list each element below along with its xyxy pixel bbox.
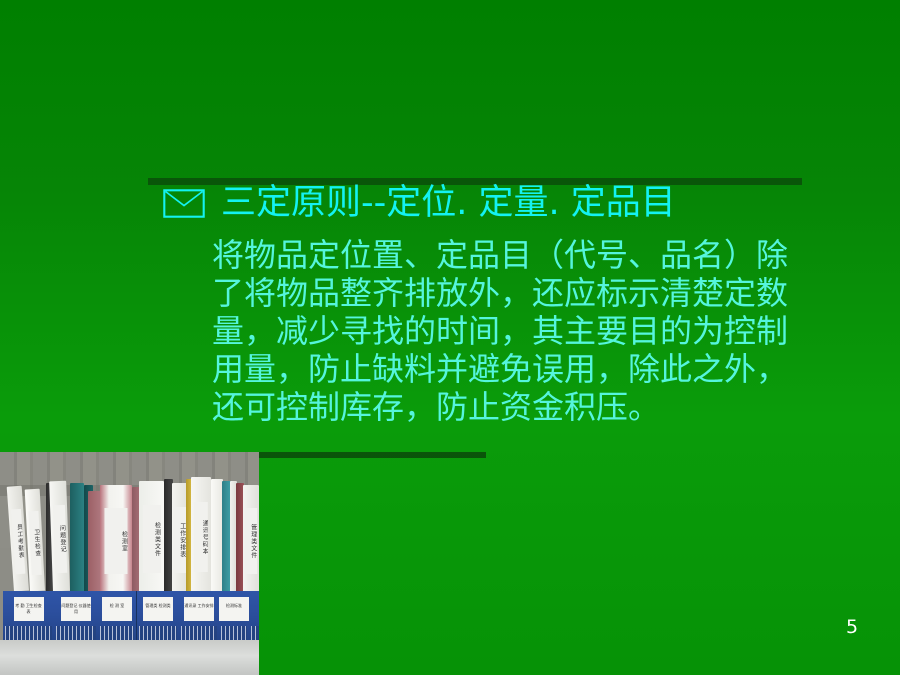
binder-spine-label: 检测室 xyxy=(104,508,127,573)
photo-desk-surface xyxy=(0,640,259,675)
slide-canvas: 三定原则--定位. 定量. 定品目 将物品定位置、定品目（代号、品名）除 了将物… xyxy=(0,0,900,675)
page-number: 5 xyxy=(846,616,858,638)
binder-spine: 管理类文件 xyxy=(243,485,259,591)
binder-photo: 员工考勤表 卫生检查 问题登记 检测室 检测类文件 工作安排表 通讯号码本 xyxy=(0,452,259,675)
envelope-icon xyxy=(163,189,205,218)
binder-spine xyxy=(70,483,84,591)
binder-spine-label: 工作安排表 xyxy=(174,507,186,574)
binder-spine: 检测类文件 xyxy=(139,481,164,591)
binder-spine: 通讯号码本 xyxy=(191,477,211,591)
holder-label-tag: 考 勤 卫生检查表 xyxy=(14,597,44,621)
binder-spine-label: 检测类文件 xyxy=(143,505,161,573)
holder-label-tag: 问题登记 仪器使用 xyxy=(61,597,91,621)
body-line: 了将物品整齐排放外，还应标示清楚定数 xyxy=(212,274,860,312)
binder-spine-label: 通讯号码本 xyxy=(194,502,208,572)
body-text-block: 将物品定位置、定品目（代号、品名）除 了将物品整齐排放外，还应标示清楚定数 量，… xyxy=(212,236,860,426)
binder-spine: 检测室 xyxy=(100,485,132,591)
binder-spine-label: 问题登记 xyxy=(52,505,67,573)
body-line: 还可控制库存，防止资金积压。 xyxy=(212,388,860,426)
binder-spine-label: 员工考勤表 xyxy=(10,509,25,574)
body-line: 将物品定位置、定品目（代号、品名）除 xyxy=(212,236,860,274)
binder-spine-label: 管理类文件 xyxy=(245,508,257,573)
holder-label-tag: 管理类 检测类 xyxy=(143,597,173,621)
body-line: 用量，防止缺料并避免误用，除此之外， xyxy=(212,350,860,388)
holder-label-tag: 检 测 室 xyxy=(102,597,132,621)
binder-spine-label: 卫生检查 xyxy=(28,511,42,575)
title-text: 三定原则--定位. 定量. 定品目 xyxy=(221,183,676,223)
photo-shadow-band xyxy=(258,452,486,458)
holder-label-tag: 通讯录 工作安排 xyxy=(184,597,214,621)
slide-title: 三定原则--定位. 定量. 定品目 xyxy=(163,180,863,226)
holder-label-tag: 检测标准 xyxy=(219,597,249,621)
body-line: 量，减少寻找的时间，其主要目的为控制 xyxy=(212,312,860,350)
